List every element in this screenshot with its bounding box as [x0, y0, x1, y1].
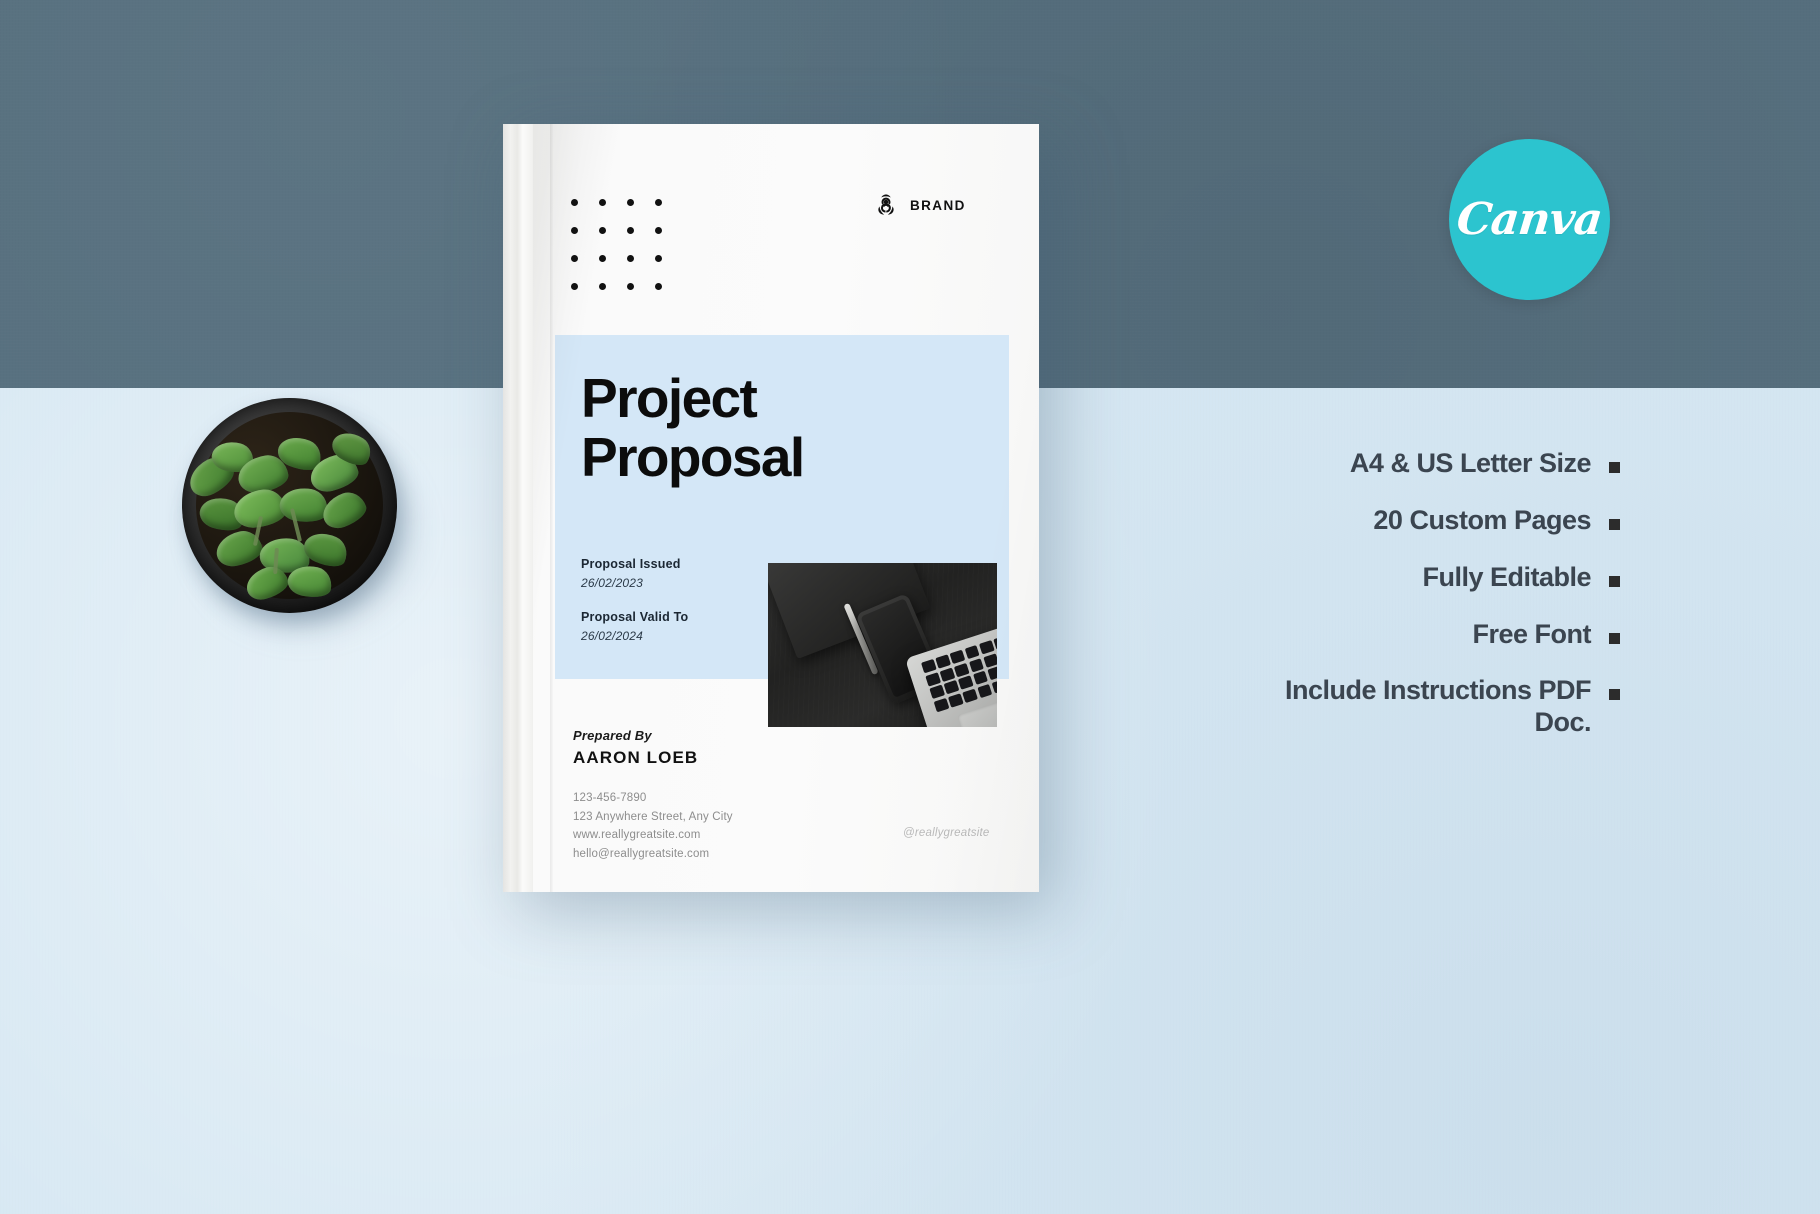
square-bullet-icon: [1609, 462, 1620, 473]
social-handle: @reallygreatsite: [903, 827, 989, 839]
page-title: Project Proposal: [581, 369, 981, 487]
proposal-book-mockup: BRAND Project Proposal Proposal Issued 2…: [503, 124, 1039, 892]
contact-email: hello@reallygreatsite.com: [573, 845, 733, 864]
page-title-line1: Project: [581, 369, 981, 428]
prepared-by-name: AARON LOEB: [573, 748, 698, 768]
book-page-stack: [503, 124, 533, 892]
grid-dot: [627, 283, 634, 290]
grid-dot: [571, 255, 578, 262]
grid-dot: [599, 199, 606, 206]
feature-label: Include Instructions PDF Doc.: [1230, 675, 1591, 739]
square-bullet-icon: [1609, 576, 1620, 587]
feature-label: A4 & US Letter Size: [1350, 448, 1591, 480]
brand-logo: BRAND: [873, 192, 966, 218]
biohazard-icon: [873, 192, 899, 218]
feature-item: A4 & US Letter Size: [1230, 448, 1620, 480]
grid-dot: [627, 227, 634, 234]
book-spine-crease: [550, 124, 553, 892]
canva-badge-label: Canva: [1455, 194, 1605, 245]
feature-label: 20 Custom Pages: [1373, 505, 1591, 537]
contact-phone: 123-456-7890: [573, 789, 733, 808]
meta-valid-to-label: Proposal Valid To: [581, 610, 688, 624]
grid-dot: [655, 199, 662, 206]
grid-dot: [599, 283, 606, 290]
proposal-meta: Proposal Issued 26/02/2023 Proposal Vali…: [581, 557, 688, 643]
grid-dot: [655, 255, 662, 262]
grid-dot: [627, 255, 634, 262]
meta-issued: Proposal Issued 26/02/2023: [581, 557, 688, 590]
grid-dot: [655, 227, 662, 234]
canva-badge[interactable]: Canva: [1449, 139, 1610, 300]
feature-label: Free Font: [1472, 619, 1591, 651]
contact-address: 123 Anywhere Street, Any City: [573, 808, 733, 827]
feature-item: Free Font: [1230, 619, 1620, 651]
meta-valid-to: Proposal Valid To 26/02/2024: [581, 610, 688, 643]
feature-item: Include Instructions PDF Doc.: [1230, 675, 1620, 739]
feature-list: A4 & US Letter Size 20 Custom Pages Full…: [1230, 448, 1620, 739]
feature-item: 20 Custom Pages: [1230, 505, 1620, 537]
meta-valid-to-value: 26/02/2024: [581, 629, 688, 643]
square-bullet-icon: [1609, 633, 1620, 644]
contact-block: 123-456-7890 123 Anywhere Street, Any Ci…: [573, 789, 733, 864]
tablet-edge: [768, 563, 892, 564]
prepared-by-label: Prepared By: [573, 728, 698, 743]
meta-issued-value: 26/02/2023: [581, 576, 688, 590]
plant-pot: [182, 398, 397, 613]
feature-label: Fully Editable: [1422, 562, 1591, 594]
contact-website: www.reallygreatsite.com: [573, 826, 733, 845]
grid-dot: [655, 283, 662, 290]
grid-dot: [571, 199, 578, 206]
brand-label: BRAND: [910, 198, 966, 213]
grid-dot: [571, 283, 578, 290]
prepared-by-block: Prepared By AARON LOEB: [573, 728, 698, 768]
cover-photo: [768, 563, 997, 727]
grid-dot: [627, 199, 634, 206]
grid-dot: [571, 227, 578, 234]
grid-dot: [599, 227, 606, 234]
feature-item: Fully Editable: [1230, 562, 1620, 594]
potted-plant: [182, 398, 412, 628]
square-bullet-icon: [1609, 519, 1620, 530]
square-bullet-icon: [1609, 689, 1620, 700]
dot-grid-decoration: [571, 199, 662, 290]
page-title-line2: Proposal: [581, 428, 981, 487]
grid-dot: [599, 255, 606, 262]
meta-issued-label: Proposal Issued: [581, 557, 688, 571]
